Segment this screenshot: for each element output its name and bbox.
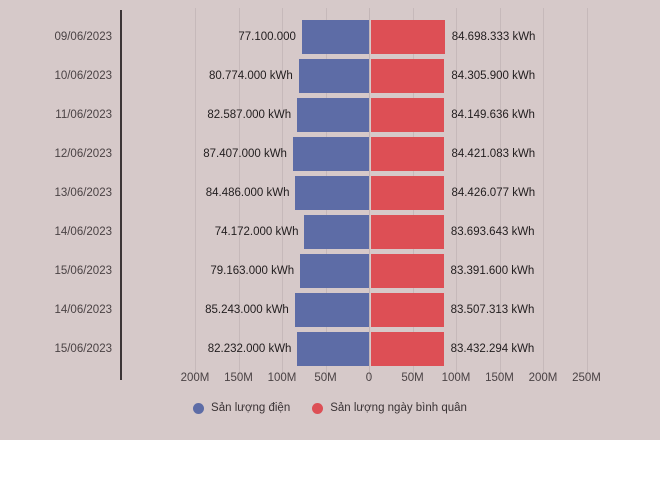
row-category-label: 11/06/2023 [0, 96, 112, 134]
bar-san-luong-dien[interactable] [295, 293, 369, 327]
bar-value-label-right: 84.426.077 kWh [444, 174, 535, 212]
embed-footer: Share Made with infogram [0, 440, 660, 489]
x-axis-tick-labels: 200M150M100M50M050M100M150M200M250M [0, 372, 660, 392]
chart-row: 14/06/202374.172.000 kWh83.693.643 kWh [0, 213, 660, 251]
bar-value-label-left: 74.172.000 kWh [215, 213, 305, 251]
bar-san-luong-ngay-binh-quan[interactable] [371, 20, 445, 54]
row-category-label: 12/06/2023 [0, 135, 112, 173]
bar-san-luong-dien[interactable] [300, 254, 369, 288]
chart-rows: 09/06/202377.100.00084.698.333 kWh10/06/… [0, 18, 660, 369]
legend-swatch-icon [193, 403, 204, 414]
x-axis-tick: 100M [442, 372, 471, 384]
chart-row: 11/06/202382.587.000 kWh84.149.636 kWh [0, 96, 660, 134]
legend-item[interactable]: Sản lượng ngày bình quân [312, 402, 467, 414]
chart-row: 09/06/202377.100.00084.698.333 kWh [0, 18, 660, 56]
bar-value-label-left: 85.243.000 kWh [205, 291, 295, 329]
bar-san-luong-ngay-binh-quan[interactable] [371, 176, 444, 210]
bar-value-label-left: 82.587.000 kWh [207, 96, 297, 134]
bar-value-label-right: 83.507.313 kWh [444, 291, 535, 329]
bar-value-label-left: 84.486.000 kWh [206, 174, 296, 212]
infogram-chart-embed: 09/06/202377.100.00084.698.333 kWh10/06/… [0, 0, 660, 489]
row-category-label: 14/06/2023 [0, 213, 112, 251]
chart-row: 15/06/202382.232.000 kWh83.432.294 kWh [0, 330, 660, 368]
row-category-label: 14/06/2023 [0, 291, 112, 329]
bar-san-luong-dien[interactable] [295, 176, 369, 210]
chart-row: 15/06/202379.163.000 kWh83.391.600 kWh [0, 252, 660, 290]
bar-value-label-right: 84.149.636 kWh [444, 96, 535, 134]
bar-value-label-right: 83.693.643 kWh [444, 213, 535, 251]
chart-legend: Sản lượng điệnSản lượng ngày bình quân [0, 402, 660, 414]
bar-value-label-left: 82.232.000 kWh [208, 330, 298, 368]
x-axis-tick: 50M [314, 372, 336, 384]
bar-value-label-left: 80.774.000 kWh [209, 57, 299, 95]
x-axis-tick: 50M [401, 372, 423, 384]
row-category-label: 10/06/2023 [0, 57, 112, 95]
x-axis-tick: 100M [268, 372, 297, 384]
legend-item-label: Sản lượng ngày bình quân [330, 402, 467, 414]
x-axis-tick: 200M [181, 372, 210, 384]
legend-swatch-icon [312, 403, 323, 414]
bar-san-luong-dien[interactable] [304, 215, 369, 249]
bar-san-luong-dien[interactable] [299, 59, 369, 93]
chart-row: 12/06/202387.407.000 kWh84.421.083 kWh [0, 135, 660, 173]
chart-row: 10/06/202380.774.000 kWh84.305.900 kWh [0, 57, 660, 95]
bar-value-label-left: 77.100.000 [238, 18, 302, 56]
x-axis-tick: 250M [572, 372, 601, 384]
bar-san-luong-dien[interactable] [302, 20, 369, 54]
bar-value-label-left: 87.407.000 kWh [203, 135, 293, 173]
x-axis-tick: 150M [224, 372, 253, 384]
bar-value-label-right: 84.698.333 kWh [445, 18, 536, 56]
bar-san-luong-dien[interactable] [297, 332, 369, 366]
bar-value-label-right: 83.391.600 kWh [444, 252, 535, 290]
legend-item[interactable]: Sản lượng điện [193, 402, 290, 414]
chart-plot-area: 09/06/202377.100.00084.698.333 kWh10/06/… [0, 0, 660, 440]
row-category-label: 09/06/2023 [0, 18, 112, 56]
bar-value-label-left: 79.163.000 kWh [210, 252, 300, 290]
bar-san-luong-dien[interactable] [297, 98, 369, 132]
bar-san-luong-ngay-binh-quan[interactable] [371, 254, 444, 288]
x-axis-tick: 200M [529, 372, 558, 384]
bar-san-luong-ngay-binh-quan[interactable] [371, 215, 444, 249]
x-axis-tick: 0 [366, 372, 372, 384]
bar-san-luong-ngay-binh-quan[interactable] [371, 332, 444, 366]
bar-san-luong-dien[interactable] [293, 137, 369, 171]
bar-san-luong-ngay-binh-quan[interactable] [371, 293, 444, 327]
chart-row: 14/06/202385.243.000 kWh83.507.313 kWh [0, 291, 660, 329]
row-category-label: 15/06/2023 [0, 252, 112, 290]
legend-item-label: Sản lượng điện [211, 402, 290, 414]
x-axis-tick: 150M [485, 372, 514, 384]
bar-value-label-right: 84.305.900 kWh [444, 57, 535, 95]
bar-san-luong-ngay-binh-quan[interactable] [371, 59, 444, 93]
row-category-label: 13/06/2023 [0, 174, 112, 212]
bar-san-luong-ngay-binh-quan[interactable] [371, 137, 444, 171]
chart-row: 13/06/202384.486.000 kWh84.426.077 kWh [0, 174, 660, 212]
bar-value-label-right: 84.421.083 kWh [444, 135, 535, 173]
bar-value-label-right: 83.432.294 kWh [444, 330, 535, 368]
bar-san-luong-ngay-binh-quan[interactable] [371, 98, 444, 132]
row-category-label: 15/06/2023 [0, 330, 112, 368]
